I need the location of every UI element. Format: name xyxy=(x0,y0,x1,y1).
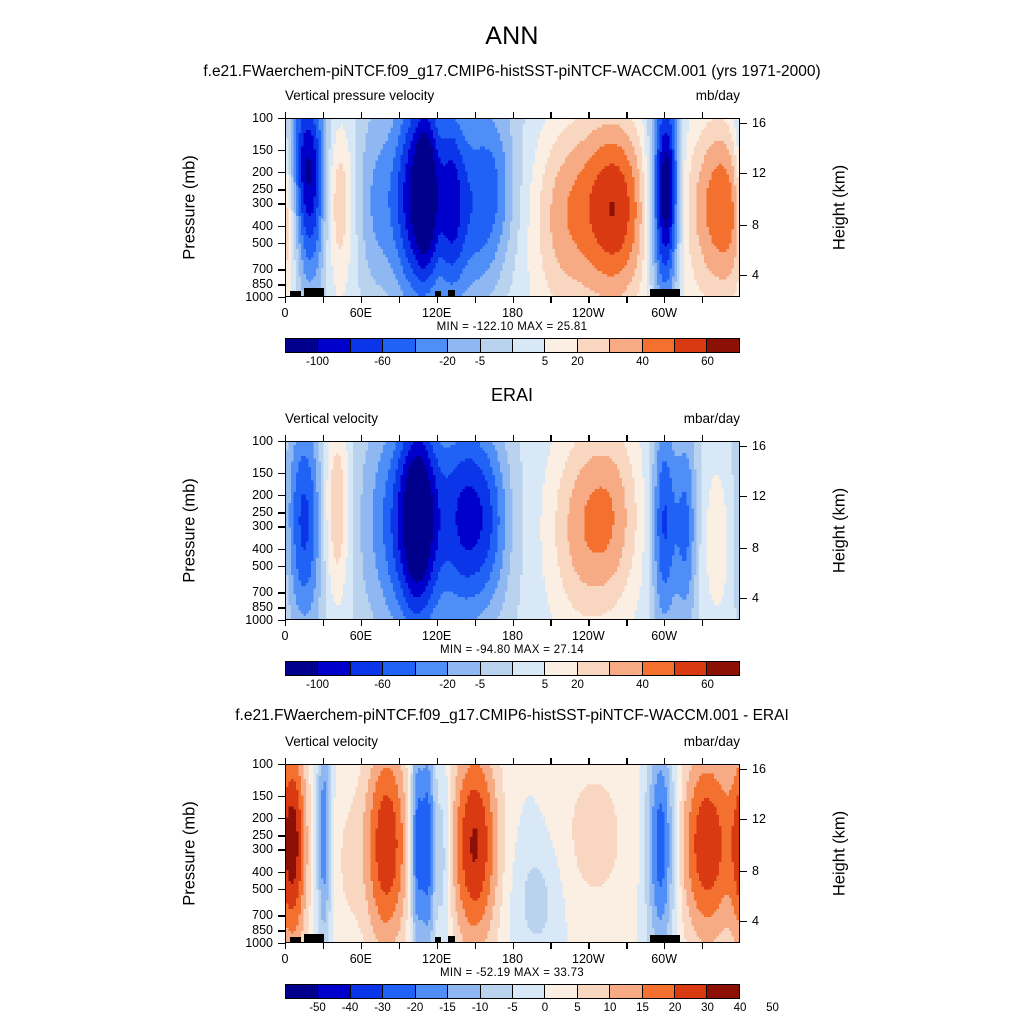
colorbar-label: -40 xyxy=(342,1002,359,1014)
figure-canvas: ANN f.e21.FWaerchem-piNTCF.f09_g17.CMIP6… xyxy=(0,0,1024,1024)
topography-bar xyxy=(650,935,680,942)
pressure-tick-mark xyxy=(278,118,285,119)
colorbar-segment[interactable] xyxy=(383,985,415,998)
colorbar-segment[interactable] xyxy=(578,662,610,675)
minmax-annotation-1: MIN = -94.80 MAX = 27.14 xyxy=(0,644,1024,656)
lon-tick-mark xyxy=(626,297,627,303)
colorbar-label: 20 xyxy=(571,679,584,691)
lon-tick-mark xyxy=(664,943,665,949)
pressure-tick-label: 100 xyxy=(227,757,273,771)
panel-left-label-0: Vertical pressure velocity xyxy=(285,88,434,103)
lon-tick-mark-top xyxy=(285,435,286,441)
colorbar-segment[interactable] xyxy=(578,339,610,352)
pressure-tick-label: 1000 xyxy=(227,613,273,627)
topography-bar xyxy=(304,934,324,942)
lon-tick-mark xyxy=(399,620,400,626)
lon-tick-label: 120W xyxy=(572,306,605,320)
colorbar-label: -10 xyxy=(472,1002,489,1014)
topography-bar xyxy=(448,290,456,296)
colorbar-label: -15 xyxy=(439,1002,456,1014)
lon-tick-mark-top xyxy=(588,758,589,764)
colorbar-segment[interactable] xyxy=(286,339,318,352)
lon-tick-label: 120W xyxy=(572,952,605,966)
colorbar-label: 40 xyxy=(734,1002,747,1014)
height-tick-label: 12 xyxy=(752,489,782,503)
lon-tick-label: 120W xyxy=(572,629,605,643)
height-tick-mark xyxy=(740,173,747,174)
colorbar-segment[interactable] xyxy=(448,339,480,352)
lon-tick-label: 180 xyxy=(502,629,523,643)
height-tick-mark xyxy=(740,871,747,872)
colorbar-segment[interactable] xyxy=(448,662,480,675)
lon-tick-mark-top xyxy=(437,758,438,764)
topography-bar xyxy=(290,291,301,296)
colorbar-label: 40 xyxy=(636,356,649,368)
panel-title-1: ERAI xyxy=(0,385,1024,406)
topography-bar xyxy=(435,937,441,942)
lon-tick-mark xyxy=(550,943,551,949)
colorbar-segment[interactable] xyxy=(286,662,318,675)
lon-tick-mark-top xyxy=(399,435,400,441)
pressure-tick-mark xyxy=(278,549,285,550)
lon-tick-mark xyxy=(588,620,589,626)
colorbar-segment[interactable] xyxy=(610,662,642,675)
lon-tick-mark-top xyxy=(323,758,324,764)
pressure-tick-label: 150 xyxy=(227,789,273,803)
panel-right-label-1: mbar/day xyxy=(684,411,740,426)
pressure-tick-label: 200 xyxy=(227,488,273,502)
height-tick-mark xyxy=(740,496,747,497)
colorbar-segment[interactable] xyxy=(351,662,383,675)
lon-tick-mark-top xyxy=(664,758,665,764)
pressure-tick-mark xyxy=(278,495,285,496)
lon-tick-mark-top xyxy=(437,112,438,118)
lon-tick-label: 120E xyxy=(422,306,451,320)
lon-tick-label: 60W xyxy=(651,952,677,966)
pressure-tick-mark xyxy=(278,835,285,836)
height-tick-mark xyxy=(740,598,747,599)
contour-field-2 xyxy=(286,765,739,942)
pressure-tick-mark xyxy=(278,297,285,298)
lon-tick-mark xyxy=(361,297,362,303)
pressure-tick-label: 200 xyxy=(227,811,273,825)
colorbar-segment[interactable] xyxy=(513,339,545,352)
lon-tick-mark-top xyxy=(513,435,514,441)
lon-tick-mark xyxy=(588,943,589,949)
height-tick-label: 4 xyxy=(752,268,782,282)
pressure-tick-mark xyxy=(278,189,285,190)
colorbar-segment[interactable] xyxy=(416,339,448,352)
case-title: f.e21.FWaerchem-piNTCF.f09_g17.CMIP6-his… xyxy=(0,63,1024,81)
pressure-tick-mark xyxy=(278,269,285,270)
colorbar-segment[interactable] xyxy=(643,339,675,352)
colorbar-segment[interactable] xyxy=(481,985,513,998)
lon-tick-mark-top xyxy=(550,112,551,118)
colorbar-1[interactable] xyxy=(285,661,740,676)
pressure-tick-mark xyxy=(278,172,285,173)
lon-tick-mark xyxy=(664,620,665,626)
season-title: ANN xyxy=(0,22,1024,51)
lon-tick-label: 180 xyxy=(502,952,523,966)
plot-area-1 xyxy=(285,441,740,620)
pressure-tick-label: 400 xyxy=(227,542,273,556)
colorbar-2[interactable] xyxy=(285,984,740,999)
pressure-tick-mark xyxy=(278,849,285,850)
panel-left-label-1: Vertical velocity xyxy=(285,411,378,426)
pressure-tick-mark xyxy=(278,592,285,593)
lon-tick-mark xyxy=(399,943,400,949)
colorbar-segment[interactable] xyxy=(481,339,513,352)
height-axis-title: Height (km) xyxy=(831,773,850,933)
pressure-tick-label: 250 xyxy=(227,505,273,519)
lon-tick-mark xyxy=(437,620,438,626)
lon-tick-mark-top xyxy=(626,758,627,764)
pressure-tick-mark xyxy=(278,243,285,244)
pressure-tick-label: 100 xyxy=(227,111,273,125)
topography-bar xyxy=(290,937,301,942)
minmax-annotation-0: MIN = -122.10 MAX = 25.81 xyxy=(0,321,1024,333)
pressure-tick-mark xyxy=(278,943,285,944)
lon-tick-mark-top xyxy=(588,112,589,118)
panel-right-label-2: mbar/day xyxy=(684,734,740,749)
colorbar-segment[interactable] xyxy=(481,662,513,675)
lon-tick-mark xyxy=(588,297,589,303)
colorbar-segment[interactable] xyxy=(383,662,415,675)
lon-tick-mark-top xyxy=(664,435,665,441)
colorbar-segment[interactable] xyxy=(675,985,707,998)
pressure-tick-mark xyxy=(278,818,285,819)
height-tick-label: 12 xyxy=(752,812,782,826)
height-tick-label: 16 xyxy=(752,116,782,130)
colorbar-0[interactable] xyxy=(285,338,740,353)
lon-tick-mark-top xyxy=(626,112,627,118)
lon-tick-label: 60W xyxy=(651,629,677,643)
topography-bar xyxy=(650,289,680,296)
lon-tick-label: 120E xyxy=(422,952,451,966)
pressure-tick-label: 500 xyxy=(227,882,273,896)
pressure-tick-mark xyxy=(278,796,285,797)
lon-tick-mark-top xyxy=(399,758,400,764)
colorbar-segment[interactable] xyxy=(578,985,610,998)
colorbar-segment[interactable] xyxy=(545,339,577,352)
lon-tick-mark xyxy=(285,620,286,626)
lon-tick-mark-top xyxy=(513,758,514,764)
pressure-tick-mark xyxy=(278,889,285,890)
colorbar-label: -60 xyxy=(374,356,391,368)
pressure-tick-mark xyxy=(278,915,285,916)
lon-tick-mark xyxy=(550,620,551,626)
panel-left-label-2: Vertical velocity xyxy=(285,734,378,749)
plot-area-0 xyxy=(285,118,740,297)
pressure-tick-mark xyxy=(278,441,285,442)
lon-tick-label: 0 xyxy=(282,629,289,643)
pressure-tick-label: 100 xyxy=(227,434,273,448)
colorbar-segment[interactable] xyxy=(513,985,545,998)
lon-tick-mark-top xyxy=(475,435,476,441)
pressure-tick-label: 250 xyxy=(227,182,273,196)
panel-title-2: f.e21.FWaerchem-piNTCF.f09_g17.CMIP6-his… xyxy=(0,707,1024,725)
colorbar-segment[interactable] xyxy=(383,339,415,352)
colorbar-segment[interactable] xyxy=(416,985,448,998)
pressure-tick-label: 1000 xyxy=(227,936,273,950)
lon-tick-label: 120E xyxy=(422,629,451,643)
lon-tick-mark xyxy=(323,943,324,949)
pressure-axis-title: Pressure (mb) xyxy=(181,127,200,287)
colorbar-label: -5 xyxy=(507,1002,517,1014)
lon-tick-mark-top xyxy=(513,112,514,118)
colorbar-label: 5 xyxy=(542,356,548,368)
colorbar-label: 50 xyxy=(766,1002,779,1014)
height-axis-title: Height (km) xyxy=(831,127,850,287)
topography-bar xyxy=(304,288,324,296)
pressure-tick-label: 700 xyxy=(227,262,273,276)
colorbar-label: 5 xyxy=(542,679,548,691)
height-tick-mark xyxy=(740,225,747,226)
lon-tick-mark-top xyxy=(702,435,703,441)
colorbar-label: 20 xyxy=(571,356,584,368)
colorbar-segment[interactable] xyxy=(318,662,350,675)
lon-tick-mark xyxy=(285,943,286,949)
pressure-axis-title: Pressure (mb) xyxy=(181,773,200,933)
pressure-tick-mark xyxy=(278,526,285,527)
topography-bar xyxy=(448,936,456,942)
lon-tick-mark xyxy=(513,620,514,626)
height-tick-mark xyxy=(740,819,747,820)
plot-area-2 xyxy=(285,764,740,943)
lon-tick-mark-top xyxy=(702,758,703,764)
lon-tick-mark xyxy=(475,620,476,626)
colorbar-label: -5 xyxy=(475,356,485,368)
lon-tick-mark xyxy=(361,620,362,626)
lon-tick-mark-top xyxy=(588,435,589,441)
colorbar-segment[interactable] xyxy=(545,985,577,998)
pressure-axis-title: Pressure (mb) xyxy=(181,450,200,610)
colorbar-segment[interactable] xyxy=(351,985,383,998)
lon-tick-mark-top xyxy=(361,435,362,441)
lon-tick-label: 60W xyxy=(651,306,677,320)
lon-tick-mark-top xyxy=(437,435,438,441)
colorbar-segment[interactable] xyxy=(416,662,448,675)
pressure-tick-mark xyxy=(278,473,285,474)
lon-tick-mark-top xyxy=(475,758,476,764)
height-tick-mark xyxy=(740,548,747,549)
colorbar-segment[interactable] xyxy=(351,339,383,352)
lon-tick-mark-top xyxy=(626,435,627,441)
colorbar-segment[interactable] xyxy=(513,662,545,675)
lon-tick-mark-top xyxy=(285,758,286,764)
colorbar-segment[interactable] xyxy=(610,985,642,998)
colorbar-segment[interactable] xyxy=(286,985,318,998)
lon-tick-mark xyxy=(664,297,665,303)
lon-tick-mark xyxy=(437,943,438,949)
contour-field-0 xyxy=(286,119,739,296)
pressure-tick-mark xyxy=(278,872,285,873)
colorbar-label: 20 xyxy=(669,1002,682,1014)
pressure-tick-label: 400 xyxy=(227,865,273,879)
lon-tick-mark xyxy=(475,297,476,303)
colorbar-label: 0 xyxy=(542,1002,548,1014)
colorbar-label: 10 xyxy=(604,1002,617,1014)
lon-tick-mark-top xyxy=(702,112,703,118)
colorbar-label: -60 xyxy=(374,679,391,691)
colorbar-segment[interactable] xyxy=(707,339,738,352)
colorbar-label: -50 xyxy=(309,1002,326,1014)
height-tick-label: 8 xyxy=(752,541,782,555)
colorbar-segment[interactable] xyxy=(675,339,707,352)
panel-right-label-0: mb/day xyxy=(696,88,740,103)
lon-tick-mark-top xyxy=(285,112,286,118)
colorbar-label: -20 xyxy=(439,356,456,368)
height-axis-title: Height (km) xyxy=(831,450,850,610)
lon-tick-mark xyxy=(702,943,703,949)
height-tick-label: 8 xyxy=(752,218,782,232)
lon-tick-label: 60E xyxy=(350,629,372,643)
minmax-annotation-2: MIN = -52.19 MAX = 33.73 xyxy=(0,967,1024,979)
height-tick-mark xyxy=(740,921,747,922)
colorbar-segment[interactable] xyxy=(318,339,350,352)
pressure-tick-label: 300 xyxy=(227,196,273,210)
lon-tick-mark xyxy=(626,943,627,949)
pressure-tick-mark xyxy=(278,150,285,151)
pressure-tick-label: 300 xyxy=(227,842,273,856)
lon-tick-mark xyxy=(702,297,703,303)
pressure-tick-label: 500 xyxy=(227,236,273,250)
lon-tick-mark xyxy=(399,297,400,303)
pressure-tick-mark xyxy=(278,566,285,567)
lon-tick-mark xyxy=(513,297,514,303)
colorbar-segment[interactable] xyxy=(707,985,738,998)
lon-tick-mark xyxy=(361,943,362,949)
colorbar-segment[interactable] xyxy=(707,662,738,675)
lon-tick-mark xyxy=(323,297,324,303)
lon-tick-label: 0 xyxy=(282,952,289,966)
height-tick-mark xyxy=(740,275,747,276)
pressure-tick-label: 150 xyxy=(227,466,273,480)
lon-tick-mark xyxy=(475,943,476,949)
lon-tick-mark xyxy=(285,297,286,303)
height-tick-label: 16 xyxy=(752,762,782,776)
topography-bar xyxy=(435,291,441,296)
lon-tick-mark xyxy=(437,297,438,303)
colorbar-segment[interactable] xyxy=(448,985,480,998)
lon-tick-mark xyxy=(626,620,627,626)
lon-tick-mark-top xyxy=(323,435,324,441)
colorbar-label: -20 xyxy=(439,679,456,691)
pressure-tick-mark xyxy=(278,203,285,204)
colorbar-label: 40 xyxy=(636,679,649,691)
height-tick-mark xyxy=(740,769,747,770)
height-tick-label: 8 xyxy=(752,864,782,878)
pressure-tick-mark xyxy=(278,226,285,227)
colorbar-label: 60 xyxy=(701,679,714,691)
height-tick-mark xyxy=(740,446,747,447)
lon-tick-mark-top xyxy=(361,112,362,118)
lon-tick-mark-top xyxy=(550,758,551,764)
lon-tick-mark-top xyxy=(323,112,324,118)
contour-field-1 xyxy=(286,442,739,619)
colorbar-segment[interactable] xyxy=(675,662,707,675)
lon-tick-label: 180 xyxy=(502,306,523,320)
colorbar-label: -30 xyxy=(374,1002,391,1014)
pressure-tick-label: 1000 xyxy=(227,290,273,304)
pressure-tick-mark xyxy=(278,512,285,513)
height-tick-mark xyxy=(740,123,747,124)
lon-tick-mark-top xyxy=(361,758,362,764)
colorbar-segment[interactable] xyxy=(318,985,350,998)
pressure-tick-label: 150 xyxy=(227,143,273,157)
colorbar-label: 15 xyxy=(636,1002,649,1014)
lon-tick-mark-top xyxy=(550,435,551,441)
height-tick-label: 12 xyxy=(752,166,782,180)
height-tick-label: 4 xyxy=(752,914,782,928)
pressure-tick-mark xyxy=(278,284,285,285)
height-tick-label: 4 xyxy=(752,591,782,605)
pressure-tick-label: 200 xyxy=(227,165,273,179)
lon-tick-label: 60E xyxy=(350,306,372,320)
pressure-tick-label: 500 xyxy=(227,559,273,573)
lon-tick-mark xyxy=(702,620,703,626)
colorbar-segment[interactable] xyxy=(643,985,675,998)
pressure-tick-label: 300 xyxy=(227,519,273,533)
height-tick-label: 16 xyxy=(752,439,782,453)
pressure-tick-label: 700 xyxy=(227,585,273,599)
pressure-tick-mark xyxy=(278,620,285,621)
lon-tick-label: 60E xyxy=(350,952,372,966)
colorbar-label: 60 xyxy=(701,356,714,368)
colorbar-label: 30 xyxy=(701,1002,714,1014)
lon-tick-mark xyxy=(550,297,551,303)
pressure-tick-label: 400 xyxy=(227,219,273,233)
pressure-tick-mark xyxy=(278,764,285,765)
colorbar-label: -100 xyxy=(306,679,329,691)
pressure-tick-mark xyxy=(278,930,285,931)
lon-tick-label: 0 xyxy=(282,306,289,320)
colorbar-segment[interactable] xyxy=(545,662,577,675)
pressure-tick-label: 700 xyxy=(227,908,273,922)
pressure-tick-mark xyxy=(278,607,285,608)
lon-tick-mark xyxy=(513,943,514,949)
colorbar-segment[interactable] xyxy=(643,662,675,675)
colorbar-label: -5 xyxy=(475,679,485,691)
lon-tick-mark-top xyxy=(664,112,665,118)
colorbar-segment[interactable] xyxy=(610,339,642,352)
lon-tick-mark xyxy=(323,620,324,626)
pressure-tick-label: 250 xyxy=(227,828,273,842)
lon-tick-mark-top xyxy=(475,112,476,118)
colorbar-label: 5 xyxy=(574,1002,580,1014)
colorbar-label: -20 xyxy=(407,1002,424,1014)
colorbar-label: -100 xyxy=(306,356,329,368)
lon-tick-mark-top xyxy=(399,112,400,118)
